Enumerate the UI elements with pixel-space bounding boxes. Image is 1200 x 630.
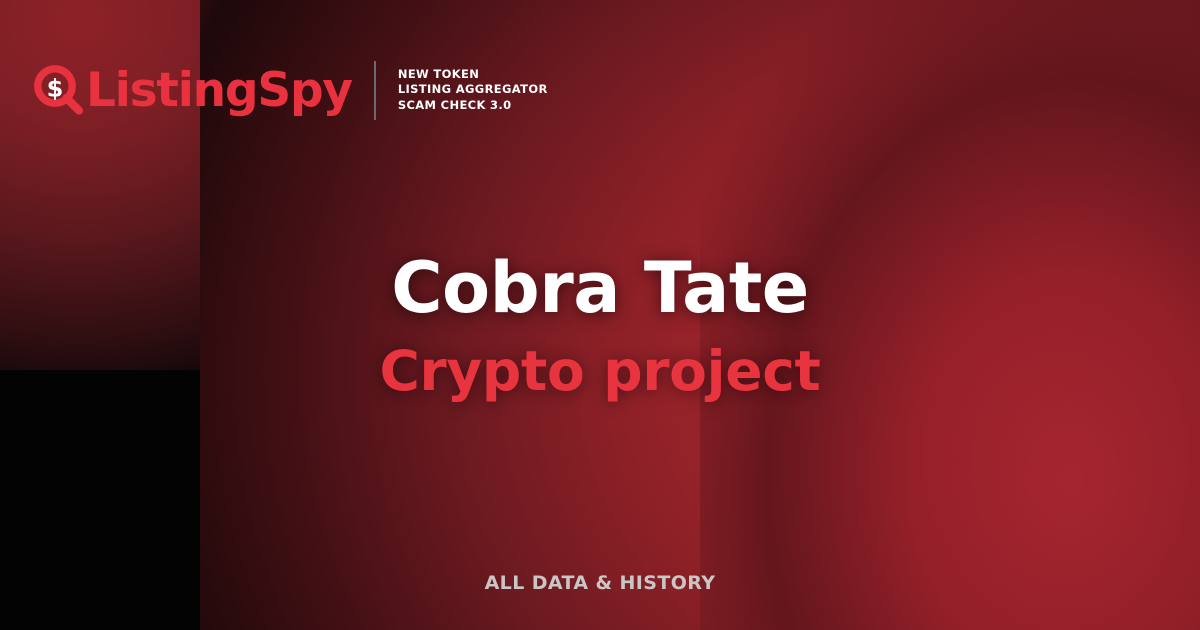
- footer-caption: ALL DATA & HISTORY: [0, 572, 1200, 594]
- svg-text:$: $: [47, 75, 64, 103]
- page-title: Cobra Tate: [0, 246, 1200, 330]
- logo-wordmark: ListingSpy: [86, 67, 352, 114]
- promo-banner: $ ListingSpy NEW TOKEN LISTING AGGREGATO…: [0, 0, 1200, 630]
- header-divider: [374, 61, 376, 120]
- tagline-line-2: LISTING AGGREGATOR: [398, 82, 548, 98]
- magnifier-dollar-icon: $: [34, 65, 86, 117]
- tagline-line-1: NEW TOKEN: [398, 67, 548, 83]
- hero-block: Cobra Tate Crypto project: [0, 246, 1200, 404]
- brand-tagline: NEW TOKEN LISTING AGGREGATOR SCAM CHECK …: [398, 67, 548, 114]
- brand-header: $ ListingSpy NEW TOKEN LISTING AGGREGATO…: [34, 54, 548, 126]
- footer-block: ALL DATA & HISTORY: [0, 572, 1200, 594]
- tagline-line-3: SCAM CHECK 3.0: [398, 98, 548, 114]
- page-subtitle: Crypto project: [0, 338, 1200, 404]
- logo-lockup[interactable]: $ ListingSpy: [34, 63, 352, 117]
